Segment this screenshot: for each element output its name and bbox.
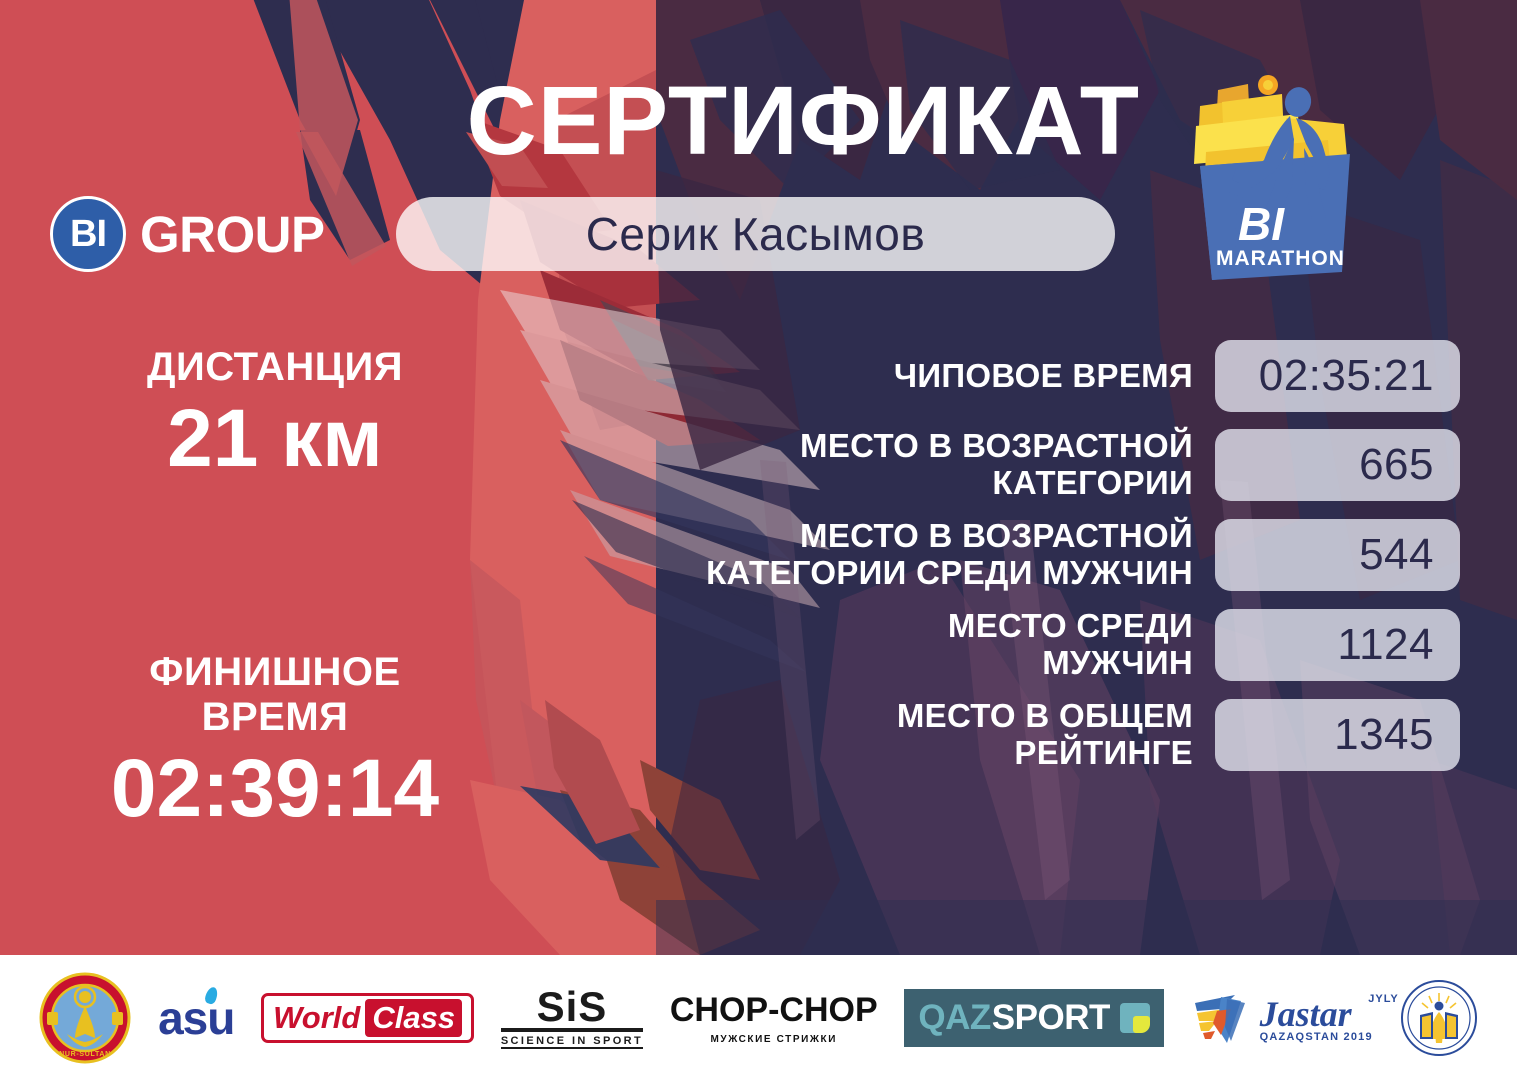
stat-row: ЧИПОВОЕ ВРЕМЯ 02:35:21 — [560, 340, 1460, 412]
sponsor-sis-tagline: SCIENCE IN SPORT — [501, 1032, 643, 1049]
marathon-logo-word: MARATHON — [1216, 247, 1345, 270]
distance-value: 21 км — [65, 394, 485, 484]
stats-list: ЧИПОВОЕ ВРЕМЯ 02:35:21 МЕСТО В ВОЗРАСТНО… — [560, 340, 1460, 788]
certificate: СЕРТИФИКАТ BI GROUP Серик Касымов — [0, 0, 1517, 1080]
participant-name-pill: Серик Касымов — [396, 197, 1115, 271]
stat-value: 1345 — [1215, 699, 1460, 771]
sponsor-sis: SiS SCIENCE IN SPORT — [501, 968, 643, 1068]
sponsor-ministry-emblem — [1400, 968, 1478, 1068]
sponsor-chop-text: CHOP-CHOP — [670, 991, 878, 1030]
sponsor-jastar-sub: QAZAQSTAN 2019 — [1260, 1031, 1373, 1043]
finish-time-block: ФИНИШНОЕ ВРЕМЯ 02:39:14 — [65, 650, 485, 834]
stat-value: 1124 — [1215, 609, 1460, 681]
marathon-logo-bi: BI — [1238, 198, 1285, 250]
stat-row: МЕСТО СРЕДИ МУЖЧИН 1124 — [560, 608, 1460, 682]
sponsor-class-text: Class — [365, 999, 462, 1037]
bi-group-logo: BI GROUP — [50, 196, 325, 272]
sponsor-nur-sultan-emblem: NUR-SULTAN — [39, 968, 131, 1068]
sponsor-world-class: World Class — [261, 968, 474, 1068]
stat-row: МЕСТО В ОБЩЕМ РЕЙТИНГЕ 1345 — [560, 698, 1460, 772]
finish-time-label: ФИНИШНОЕ ВРЕМЯ — [65, 650, 485, 740]
stat-value: 02:35:21 — [1215, 340, 1460, 412]
sponsor-asu-text: asu — [158, 992, 234, 1044]
sponsor-qazsport: QAZ SPORT — [904, 968, 1163, 1068]
bi-marathon-logo: BI MARATHON — [1178, 62, 1378, 297]
bi-group-wordmark: GROUP — [140, 205, 325, 264]
sponsor-sport-text: SPORT — [992, 998, 1110, 1038]
participant-name: Серик Касымов — [586, 207, 926, 261]
stat-value: 544 — [1215, 519, 1460, 591]
distance-block: ДИСТАНЦИЯ 21 км — [65, 345, 485, 484]
sponsor-bar: NUR-SULTAN asu World Class SiS SCIENCE I… — [0, 955, 1517, 1080]
page-title: СЕРТИФИКАТ — [0, 72, 1140, 169]
sponsor-nur-sultan-text: NUR-SULTAN — [59, 1051, 111, 1058]
qazsport-square-icon — [1120, 1003, 1150, 1033]
distance-label: ДИСТАНЦИЯ — [65, 345, 485, 390]
sponsor-jastar-jyly: Jastar QAZAQSTAN 2019 JYLY — [1191, 968, 1373, 1068]
stat-label: МЕСТО В ВОЗРАСТНОЙ КАТЕГОРИИ СРЕДИ МУЖЧИ… — [560, 518, 1215, 592]
sponsor-asu: asu — [158, 968, 234, 1068]
bi-badge-icon: BI — [50, 196, 126, 272]
jastar-bird-icon — [1191, 987, 1253, 1049]
sponsor-qaz-text: QAZ — [918, 998, 990, 1038]
sponsor-sis-text: SiS — [501, 986, 643, 1033]
sponsor-chop-chop: CHOP-CHOP МУЖСКИЕ СТРИЖКИ — [670, 968, 878, 1068]
stat-label: ЧИПОВОЕ ВРЕМЯ — [560, 358, 1215, 395]
finish-time-value: 02:39:14 — [65, 744, 485, 834]
sponsor-chop-tagline: МУЖСКИЕ СТРИЖКИ — [670, 1030, 878, 1045]
stat-row: МЕСТО В ВОЗРАСТНОЙ КАТЕГОРИИ 665 — [560, 428, 1460, 502]
stat-row: МЕСТО В ВОЗРАСТНОЙ КАТЕГОРИИ СРЕДИ МУЖЧИ… — [560, 518, 1460, 592]
sponsor-jastar-text: Jastar — [1260, 993, 1373, 1035]
sponsor-world-text: World — [273, 1000, 360, 1036]
stat-label: МЕСТО СРЕДИ МУЖЧИН — [560, 608, 1215, 682]
stat-label: МЕСТО В ВОЗРАСТНОЙ КАТЕГОРИИ — [560, 428, 1215, 502]
stat-label: МЕСТО В ОБЩЕМ РЕЙТИНГЕ — [560, 698, 1215, 772]
sponsor-jastar-jyly: JYLY — [1368, 993, 1399, 1005]
stat-value: 665 — [1215, 429, 1460, 501]
